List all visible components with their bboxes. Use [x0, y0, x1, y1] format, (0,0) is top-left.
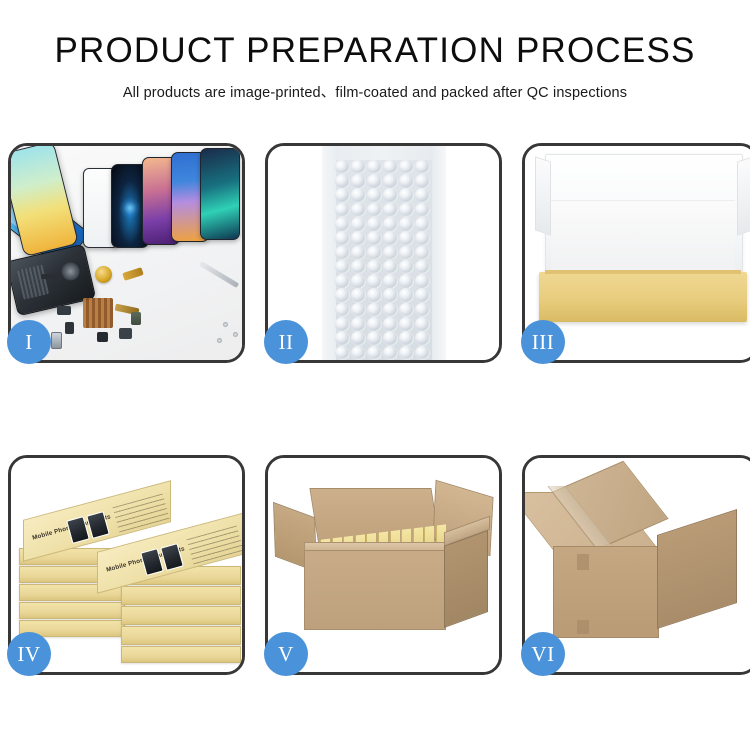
- bubble-icon: [351, 303, 366, 318]
- bubble-icon: [335, 317, 350, 332]
- bubble-icon: [399, 288, 414, 303]
- bubble-icon: [351, 260, 366, 275]
- step-badge-1: I: [7, 320, 51, 364]
- step-badge-4: IV: [7, 632, 51, 676]
- bubble-icon: [367, 217, 382, 232]
- bubble-icon: [351, 160, 366, 175]
- screw-part-icon: [223, 322, 228, 327]
- bubble-icon: [367, 203, 382, 218]
- step-badge-2: II: [264, 320, 308, 364]
- bubble-icon: [415, 260, 430, 275]
- bubble-icon: [383, 246, 398, 261]
- bubble-icon: [367, 188, 382, 203]
- bubble-icon: [335, 246, 350, 261]
- logic-board-part-icon: [83, 298, 113, 328]
- bubble-icon: [383, 160, 398, 175]
- kraft-box-edge: [121, 626, 241, 645]
- kraft-box-edge: [19, 602, 125, 619]
- bubble-icon: [351, 346, 366, 360]
- bubble-icon: [351, 203, 366, 218]
- step-badge-5: V: [264, 632, 308, 676]
- kraft-box-stack: Mobile Phone Spare Parts Mobile Phone Sp…: [17, 480, 239, 660]
- step-panel-5: V: [265, 455, 502, 675]
- bubble-icon: [335, 260, 350, 275]
- bubble-icon: [415, 246, 430, 261]
- bubble-icon: [335, 303, 350, 318]
- bubble-icon: [415, 317, 430, 332]
- step-panel-2: II: [265, 143, 502, 363]
- bubble-icon: [351, 246, 366, 261]
- bubble-icon: [399, 303, 414, 318]
- bubble-icon: [351, 231, 366, 246]
- step-panel-3: III: [522, 143, 750, 363]
- bubble-icon: [415, 174, 430, 189]
- bubble-icon: [351, 274, 366, 289]
- bubble-icon: [415, 288, 430, 303]
- bubble-icon: [415, 203, 430, 218]
- bubble-icon: [335, 174, 350, 189]
- bubble-icon: [335, 231, 350, 246]
- bubble-icon: [383, 303, 398, 318]
- step-panel-6: VI: [522, 455, 750, 675]
- battery-part-icon: [51, 332, 62, 349]
- bubble-icon: [415, 160, 430, 175]
- bubble-icon: [335, 331, 350, 346]
- kraft-box-edge: [121, 586, 241, 605]
- carton-side-icon: [444, 530, 488, 628]
- kraft-box-tray-icon: [539, 272, 747, 322]
- bubble-icon: [399, 174, 414, 189]
- step-panel-1: I: [8, 143, 245, 363]
- small-part-icon: [119, 328, 132, 339]
- bubble-icon: [367, 331, 382, 346]
- bubble-icon: [351, 174, 366, 189]
- bubble-icon: [335, 217, 350, 232]
- bubble-icon: [383, 317, 398, 332]
- bubble-wrap-grid: [336, 160, 432, 360]
- bubble-icon: [367, 303, 382, 318]
- bubble-icon: [367, 231, 382, 246]
- bubble-icon: [367, 288, 382, 303]
- bubble-icon: [399, 331, 414, 346]
- bubble-icon: [383, 217, 398, 232]
- step-badge-6: VI: [521, 632, 565, 676]
- bubble-icon: [351, 331, 366, 346]
- bubble-icon: [399, 260, 414, 275]
- bubble-icon: [383, 231, 398, 246]
- bubble-icon: [383, 346, 398, 360]
- bubble-icon: [399, 346, 414, 360]
- bubble-icon: [415, 331, 430, 346]
- kraft-box-edge: [121, 606, 241, 625]
- page-title: PRODUCT PREPARATION PROCESS: [0, 33, 750, 68]
- bubble-icon: [383, 188, 398, 203]
- bubble-icon: [415, 303, 430, 318]
- bubble-icon: [351, 288, 366, 303]
- bubble-icon: [335, 160, 350, 175]
- earpiece-part-icon: [41, 274, 63, 279]
- page-header: PRODUCT PREPARATION PROCESS All products…: [0, 0, 750, 102]
- bubble-icon: [367, 317, 382, 332]
- camera-part-icon: [131, 312, 141, 325]
- small-part-icon: [65, 322, 74, 334]
- bubble-icon: [367, 260, 382, 275]
- bubble-icon: [415, 217, 430, 232]
- step-panel-4: Mobile Phone Spare Parts Mobile Phone Sp…: [8, 455, 245, 675]
- small-part-icon: [97, 332, 108, 342]
- bubble-icon: [367, 160, 382, 175]
- bubble-icon: [335, 274, 350, 289]
- screw-part-icon: [217, 338, 222, 343]
- bubble-icon: [399, 317, 414, 332]
- bubble-icon: [351, 217, 366, 232]
- carton-front-icon: [553, 546, 659, 638]
- bubble-icon: [351, 317, 366, 332]
- page-subtitle: All products are image-printed、film-coat…: [0, 81, 750, 102]
- bubble-icon: [367, 274, 382, 289]
- bubble-icon: [335, 203, 350, 218]
- foam-liner-icon: [551, 200, 735, 275]
- carton-handle-tab-icon: [577, 620, 589, 634]
- carton-side-icon: [657, 509, 737, 629]
- bubble-icon: [383, 288, 398, 303]
- kraft-box-edge: [121, 646, 241, 663]
- bubble-icon: [367, 346, 382, 360]
- bubble-icon: [383, 203, 398, 218]
- bubble-icon: [399, 188, 414, 203]
- process-steps-grid: I II III: [8, 143, 742, 675]
- copper-coil-part-icon: [95, 266, 112, 283]
- bubble-icon: [383, 174, 398, 189]
- bubble-icon: [335, 188, 350, 203]
- bubble-icon: [351, 188, 366, 203]
- small-part-icon: [57, 306, 71, 315]
- screw-part-icon: [233, 332, 238, 337]
- bubble-icon: [399, 203, 414, 218]
- bubble-icon: [335, 288, 350, 303]
- bubble-icon: [415, 231, 430, 246]
- bubble-icon: [415, 188, 430, 203]
- bubble-icon: [367, 174, 382, 189]
- carton-front-icon: [304, 550, 446, 630]
- carton-handle-tab-icon: [577, 554, 589, 570]
- bubble-icon: [335, 346, 350, 360]
- phone-screen-teal-icon: [200, 148, 240, 240]
- step-badge-3: III: [521, 320, 565, 364]
- bubble-icon: [383, 274, 398, 289]
- bubble-icon: [415, 346, 430, 360]
- bubble-icon: [383, 331, 398, 346]
- bubble-icon: [399, 217, 414, 232]
- bubble-icon: [399, 246, 414, 261]
- bubble-icon: [399, 231, 414, 246]
- bubble-icon: [383, 260, 398, 275]
- bubble-icon: [399, 160, 414, 175]
- bubble-icon: [399, 274, 414, 289]
- bubble-icon: [415, 274, 430, 289]
- bubble-icon: [367, 246, 382, 261]
